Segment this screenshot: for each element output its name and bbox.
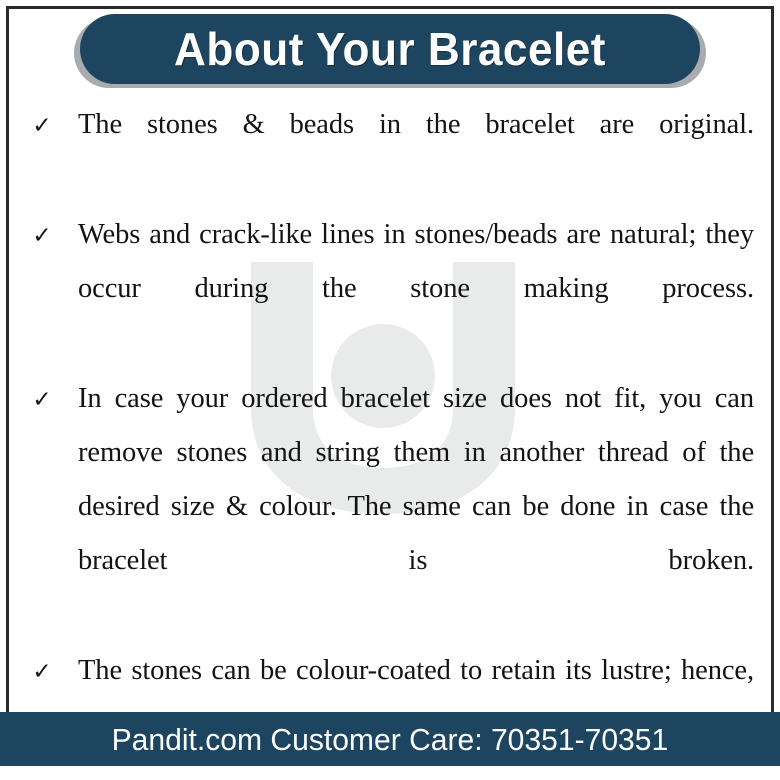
- list-item: ✓ The stones & beads in the bracelet are…: [16, 98, 764, 206]
- header-banner: About Your Bracelet: [0, 14, 780, 94]
- about-your-bracelet-card: About Your Bracelet ✓ The stones & beads…: [0, 0, 780, 780]
- bracelet-info-list: ✓ The stones & beads in the bracelet are…: [16, 98, 764, 706]
- check-icon: ✓: [30, 373, 54, 427]
- list-item-label: In case your ordered bracelet size does …: [78, 372, 764, 642]
- page-title: About Your Bracelet: [174, 26, 606, 72]
- customer-care-text: Pandit.com Customer Care: 70351-70351: [112, 724, 669, 755]
- check-icon: ✓: [30, 209, 54, 263]
- check-icon: ✓: [30, 645, 54, 699]
- list-item-label: The stones & beads in the bracelet are o…: [78, 98, 764, 206]
- footer-bar: Pandit.com Customer Care: 70351-70351: [0, 712, 780, 766]
- check-icon: ✓: [30, 99, 54, 153]
- list-item: ✓ In case your ordered bracelet size doe…: [16, 372, 764, 642]
- header-pill: About Your Bracelet: [80, 14, 700, 84]
- list-item: ✓ Webs and crack-like lines in stones/be…: [16, 208, 764, 370]
- list-item-label: Webs and crack-like lines in stones/bead…: [78, 208, 764, 370]
